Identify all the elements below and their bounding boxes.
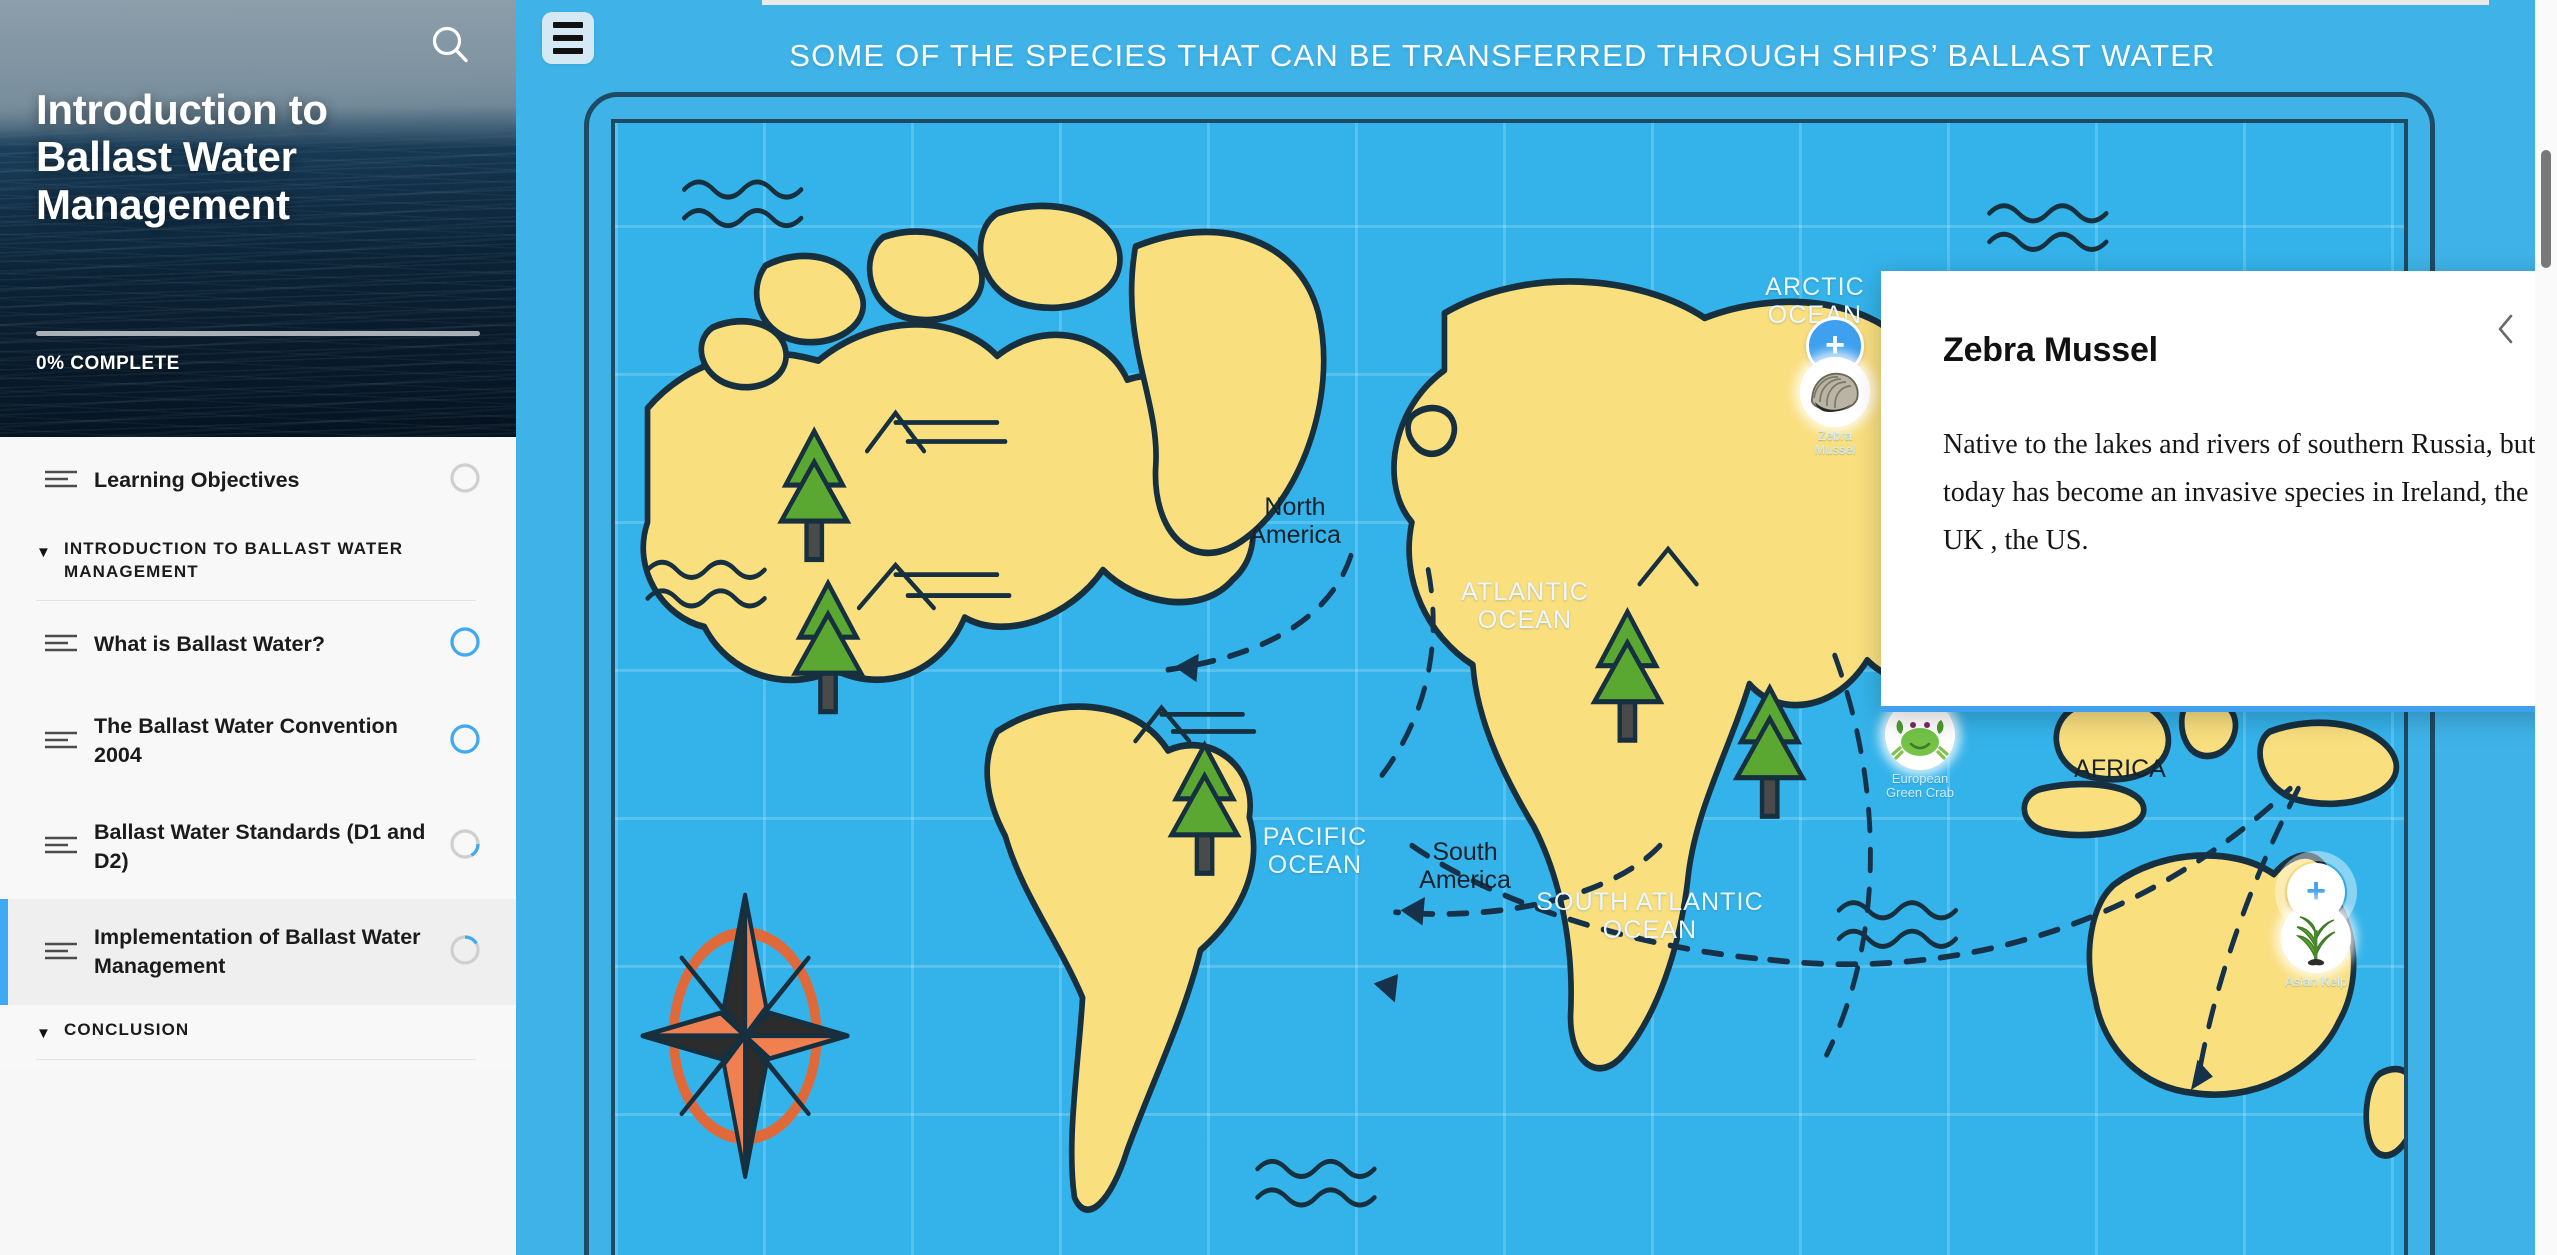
lines-icon: [44, 833, 82, 860]
course-progress: 0% COMPLETE: [36, 331, 480, 375]
sidebar-item-label: What is Ballast Water?: [94, 630, 448, 659]
sidebar-item-label: Implementation of Ballast Water Manageme…: [94, 923, 448, 981]
progress-bar-track: [36, 331, 480, 336]
species-label: Asian Kelp: [2251, 975, 2381, 989]
divider: [36, 1059, 476, 1060]
sidebar-section-label: CONCLUSION: [64, 1019, 189, 1042]
course-sidebar: Introduction to Ballast Water Management…: [0, 0, 516, 1255]
lines-icon: [44, 939, 82, 966]
lines-icon: [44, 467, 82, 494]
course-player: Introduction to Ballast Water Management…: [0, 0, 2557, 1255]
species-thumbnail: [2281, 903, 2351, 973]
content-top-strip: [762, 0, 2489, 5]
popup-title: Zebra Mussel: [1943, 331, 2158, 370]
status-badge: [448, 933, 482, 972]
lesson-content-area: SOME OF THE SPECIES THAT CAN BE TRANSFER…: [516, 0, 2557, 1255]
marker-asian-kelp[interactable]: +: [2251, 851, 2381, 1041]
page-title: Introduction to Ballast Water Management: [36, 86, 456, 228]
chevron-left-icon[interactable]: [2489, 309, 2523, 349]
sidebar-section-label: INTRODUCTION TO BALLAST WATER MANAGEMENT: [64, 538, 482, 583]
sidebar-item-label: Learning Objectives: [94, 466, 448, 495]
sidebar-edge: [516, 0, 522, 1255]
sidebar-section-introduction[interactable]: ▼ INTRODUCTION TO BALLAST WATER MANAGEME…: [0, 524, 516, 583]
caret-down-icon: ▼: [36, 545, 60, 560]
sidebar-item-ballast-water-standards[interactable]: Ballast Water Standards (D1 and D2): [0, 794, 516, 900]
menu-bar: [553, 22, 583, 28]
lesson-navigation: Learning Objectives ▼ INTRODUCTION TO BA…: [0, 437, 516, 1070]
status-badge: [448, 827, 482, 866]
species-thumbnail: [1800, 357, 1870, 427]
compass-rose-icon: [643, 895, 848, 1176]
status-badge: [448, 722, 482, 761]
lines-icon: [44, 728, 82, 755]
sidebar-item-what-is-ballast-water[interactable]: What is Ballast Water?: [0, 601, 516, 688]
lines-icon: [44, 631, 82, 658]
status-badge: [448, 625, 482, 664]
menu-bar: [553, 48, 583, 54]
map-title: SOME OF THE SPECIES THAT CAN BE TRANSFER…: [516, 38, 2489, 74]
sidebar-item-label: Ballast Water Standards (D1 and D2): [94, 818, 448, 876]
sidebar-section-conclusion[interactable]: ▼ CONCLUSION: [0, 1005, 516, 1042]
scrollbar-thumb[interactable]: [2541, 150, 2551, 268]
caret-down-icon: ▼: [36, 1026, 60, 1041]
hamburger-menu-icon[interactable]: [542, 12, 594, 64]
sidebar-item-learning-objectives[interactable]: Learning Objectives: [0, 437, 516, 524]
search-icon[interactable]: [428, 22, 474, 68]
species-label: European Green Crab: [1855, 772, 1985, 801]
crab-icon: [1891, 710, 1949, 760]
status-badge: [448, 461, 482, 500]
menu-bar: [553, 35, 583, 41]
sidebar-item-implementation-of-ballast-water-management[interactable]: Implementation of Ballast Water Manageme…: [0, 899, 516, 1005]
popup-body-text: Native to the lakes and rivers of south­…: [1943, 421, 2557, 565]
kelp-icon: [2290, 910, 2342, 966]
species-info-popup: Zebra Mussel Native to the lakes and riv…: [1881, 271, 2557, 712]
sidebar-item-label: The Ballast Water Convention 2004: [94, 712, 448, 770]
progress-label: 0% COMPLETE: [36, 353, 480, 375]
mussel-icon: [1807, 369, 1863, 415]
course-hero: Introduction to Ballast Water Management…: [0, 0, 516, 437]
sidebar-item-ballast-water-convention-2004[interactable]: The Ballast Water Convention 2004: [0, 688, 516, 794]
